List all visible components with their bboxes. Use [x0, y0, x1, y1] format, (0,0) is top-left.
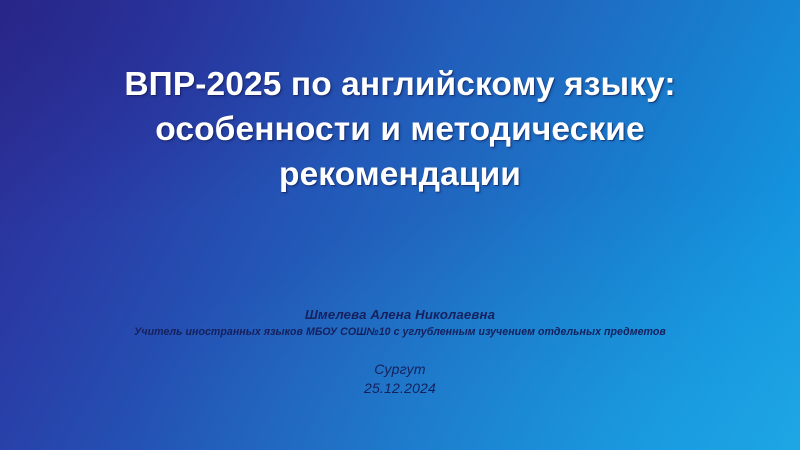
author-role: Учитель иностранных языков МБОУ СОШ№10 с… — [0, 324, 800, 341]
title-line-2: особенности и методические — [60, 107, 740, 152]
place-date-block: Сургут 25.12.2024 — [0, 360, 800, 398]
slide-title: ВПР-2025 по английскому языку: особеннос… — [0, 62, 800, 197]
place-city: Сургут — [0, 360, 800, 379]
author-block: Шмелева Алена Николаевна Учитель иностра… — [0, 306, 800, 341]
place-date: 25.12.2024 — [0, 379, 800, 398]
presentation-title-slide: ВПР-2025 по английскому языку: особеннос… — [0, 0, 800, 450]
author-name: Шмелева Алена Николаевна — [0, 306, 800, 324]
title-line-1: ВПР-2025 по английскому языку: — [60, 62, 740, 107]
title-line-3: рекомендации — [60, 152, 740, 197]
